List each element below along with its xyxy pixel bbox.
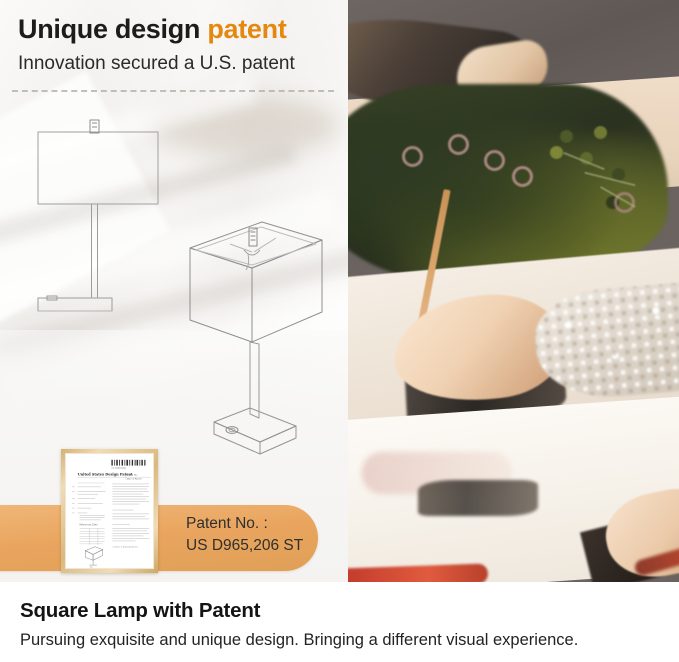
patent-value: US D965,206 ST [186,535,336,557]
dashed-divider [12,90,334,92]
lifestyle-photo [348,0,679,582]
photo-flower-bud [550,146,563,159]
photo-flower-bud [594,126,607,139]
photo-pink-floret [512,166,533,187]
svg-text:US D965206S: US D965206S [111,468,126,470]
caption-title: Square Lamp with Patent [0,582,679,623]
caption-subtitle: Pursuing exquisite and unique design. Br… [0,623,679,650]
lamp-technical-drawings [0,104,348,456]
photo-pink-floret [402,146,423,167]
page-title: Unique design patent [0,0,348,46]
photo-pink-floret [484,150,505,171]
patent-number-text: Patent No. : US D965,206 ST [186,513,336,558]
svg-text:United States Design Patent: United States Design Patent [78,472,133,476]
svg-text:Date of Patent:: Date of Patent: [127,478,142,481]
title-accent: patent [207,14,286,44]
front-view-lamp [38,120,158,311]
iso-view-lamp [190,222,322,454]
patent-label: Patent No. : [186,513,336,535]
patent-certificate-frame: US D965206S United States Design Patent … [61,449,158,573]
photo-flower-bud [560,130,573,143]
hero-section: Patent No. : US D965,206 ST [0,0,679,582]
caption-block: Square Lamp with Patent Pursuing exquisi… [0,582,679,662]
patent-certificate-document: US D965206S United States Design Patent … [65,453,154,569]
photo-pencil-scribble [418,480,538,516]
svg-text:Patent No.:: Patent No.: [127,473,138,476]
page-subtitle: Innovation secured a U.S. patent [0,46,348,76]
svg-text:References Cited: References Cited [80,523,99,526]
header-block: Unique design patent Innovation secured … [0,0,348,92]
svg-text:1 Claim, 5 Drawing Sheets: 1 Claim, 5 Drawing Sheets [112,546,138,549]
left-info-panel: Patent No. : US D965,206 ST [0,0,348,582]
title-main: Unique design [18,14,200,44]
photo-pink-floret [448,134,469,155]
